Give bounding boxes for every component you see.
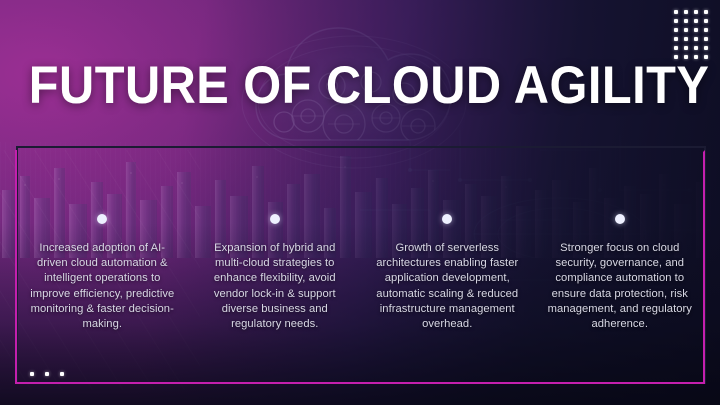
columns-container: Increased adoption of AI-driven cloud au… xyxy=(16,214,706,332)
three-dots-icon xyxy=(30,372,64,376)
bullet-dot-2 xyxy=(270,214,280,224)
column-4: Stronger focus on cloud security, govern… xyxy=(534,214,707,332)
page-title: FUTURE OF CLOUD AGILITY xyxy=(29,58,691,114)
column-1-text: Increased adoption of AI-driven cloud au… xyxy=(30,241,175,332)
column-4-text: Stronger focus on cloud security, govern… xyxy=(548,241,693,332)
column-2-text: Expansion of hybrid and multi-cloud stra… xyxy=(203,241,348,332)
bullet-dot-1 xyxy=(97,214,107,224)
bullet-dot-3 xyxy=(442,214,452,224)
slide-canvas: FUTURE OF CLOUD AGILITY Increased adopti… xyxy=(0,0,720,405)
column-2: Expansion of hybrid and multi-cloud stra… xyxy=(189,214,362,332)
column-3-text: Growth of serverless architectures enabl… xyxy=(375,241,520,332)
bullet-dot-4 xyxy=(615,214,625,224)
column-3: Growth of serverless architectures enabl… xyxy=(361,214,534,332)
content-frame-accent-tick xyxy=(15,150,17,152)
column-1: Increased adoption of AI-driven cloud au… xyxy=(16,214,189,332)
